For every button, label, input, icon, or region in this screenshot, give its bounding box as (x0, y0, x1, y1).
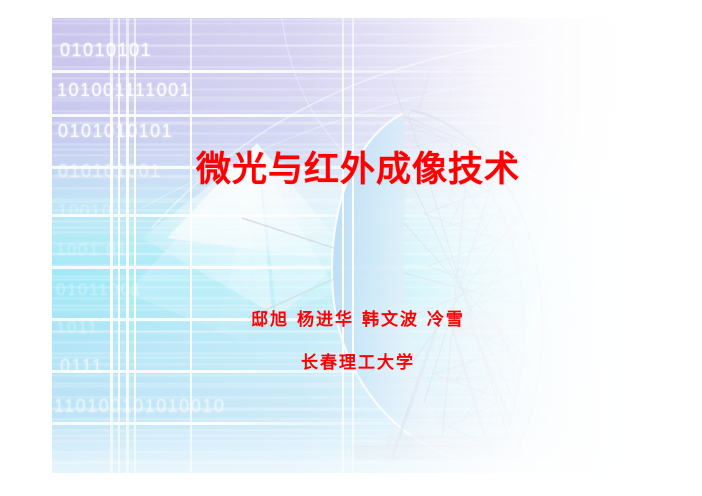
presentation-slide: 0101010110100111100101010101010101010011… (52, 18, 664, 473)
binary-row: 01010101 (60, 40, 152, 61)
binary-row: 101001111001 (57, 80, 191, 101)
vertical-light-line (352, 18, 354, 473)
slide-organization: 长春理工大学 (52, 348, 664, 373)
binary-row: 01011001 (56, 280, 142, 300)
vertical-light-line (110, 18, 113, 473)
slide-title: 微光与红外成像技术 (52, 151, 664, 190)
slide-background-bottom-fade (52, 413, 664, 473)
binary-row: 10010 (58, 201, 113, 221)
vertical-light-line (342, 18, 344, 473)
binary-row: 0101010101 (58, 121, 173, 142)
vertical-light-line (134, 18, 136, 473)
vertical-light-line (126, 18, 129, 473)
vertical-light-line (190, 18, 192, 473)
slide-authors: 邸旭 杨进华 韩文波 冷雪 (52, 305, 664, 330)
vertical-light-line (118, 18, 120, 473)
